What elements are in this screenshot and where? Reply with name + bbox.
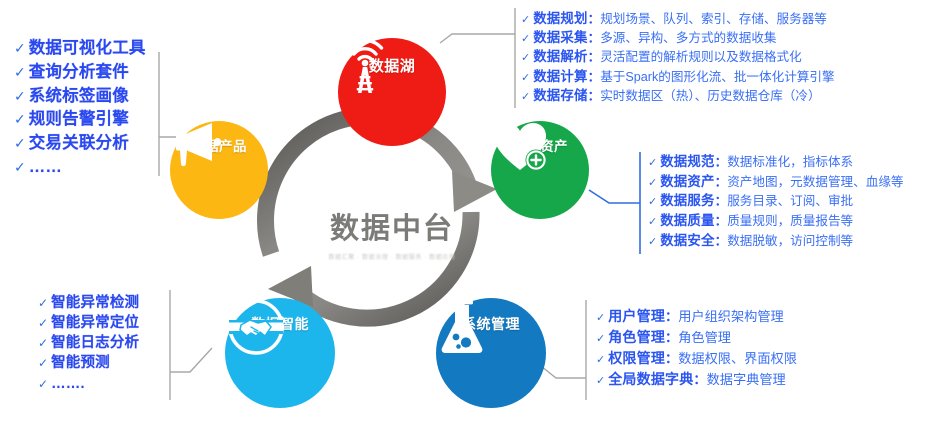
center-subtitle: 数据汇聚 · 数据治理 · 数据服务 · 数据应用 <box>297 252 487 261</box>
heart-plus-icon <box>491 121 549 173</box>
diagram-canvas: 数据中台 数据汇聚 · 数据治理 · 数据服务 · 数据应用 数据湖 数据资产 <box>0 0 931 428</box>
node-data-intelligence[interactable]: 数据智能 <box>225 298 335 408</box>
node-data-products[interactable]: 数据产品 <box>170 121 268 219</box>
center-title-block: 数据中台 数据汇聚 · 数据治理 · 数据服务 · 数据应用 <box>297 205 487 261</box>
broadcast-tower-icon <box>338 38 392 96</box>
flask-icon <box>436 298 488 356</box>
page-title: 数据中台 <box>297 205 487 247</box>
node-data-assets[interactable]: 数据资产 <box>491 121 589 219</box>
node-data-lake[interactable]: 数据湖 <box>338 38 446 146</box>
node-system-management[interactable]: 系统管理 <box>436 298 546 408</box>
handshake-icon <box>225 298 287 356</box>
megaphone-icon <box>170 121 226 169</box>
